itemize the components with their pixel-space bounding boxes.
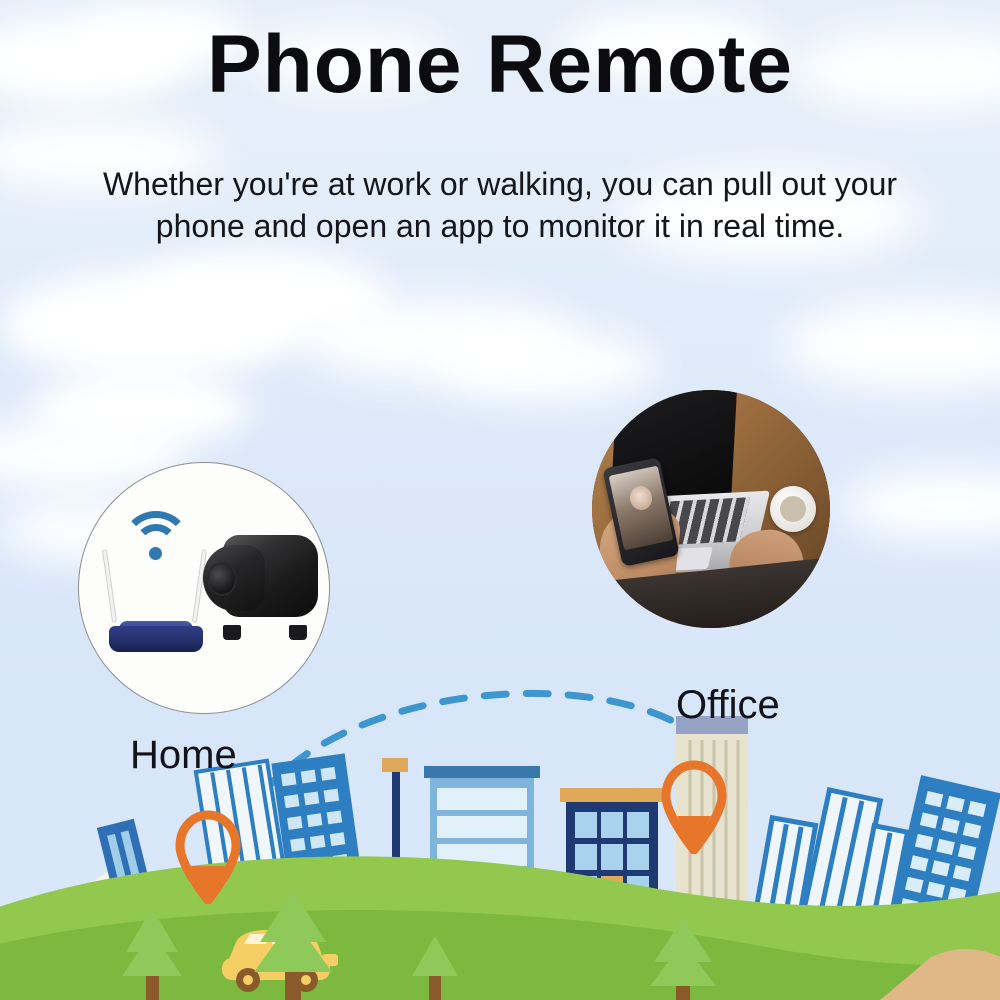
cloud-shape xyxy=(780,300,1000,390)
cloud-shape xyxy=(30,370,250,448)
page-subtitle: Whether you're at work or walking, you c… xyxy=(100,163,900,247)
coffee-cup-inner xyxy=(780,496,806,522)
office-label: Office xyxy=(676,683,780,728)
home-label: Home xyxy=(130,733,237,778)
cloud-shape xyxy=(0,270,300,380)
cloud-shape xyxy=(300,300,580,380)
wifi-signal-icon xyxy=(121,511,191,575)
map-pin-icon[interactable] xyxy=(658,758,730,854)
poster-canvas: Phone Remote Whether you're at work or w… xyxy=(0,0,1000,1000)
cloud-shape xyxy=(130,250,390,345)
cloud-shape xyxy=(840,470,1000,540)
page-title: Phone Remote xyxy=(0,22,1000,108)
map-pin-icon[interactable] xyxy=(172,808,244,904)
office-scene-photo-circle xyxy=(592,390,830,628)
